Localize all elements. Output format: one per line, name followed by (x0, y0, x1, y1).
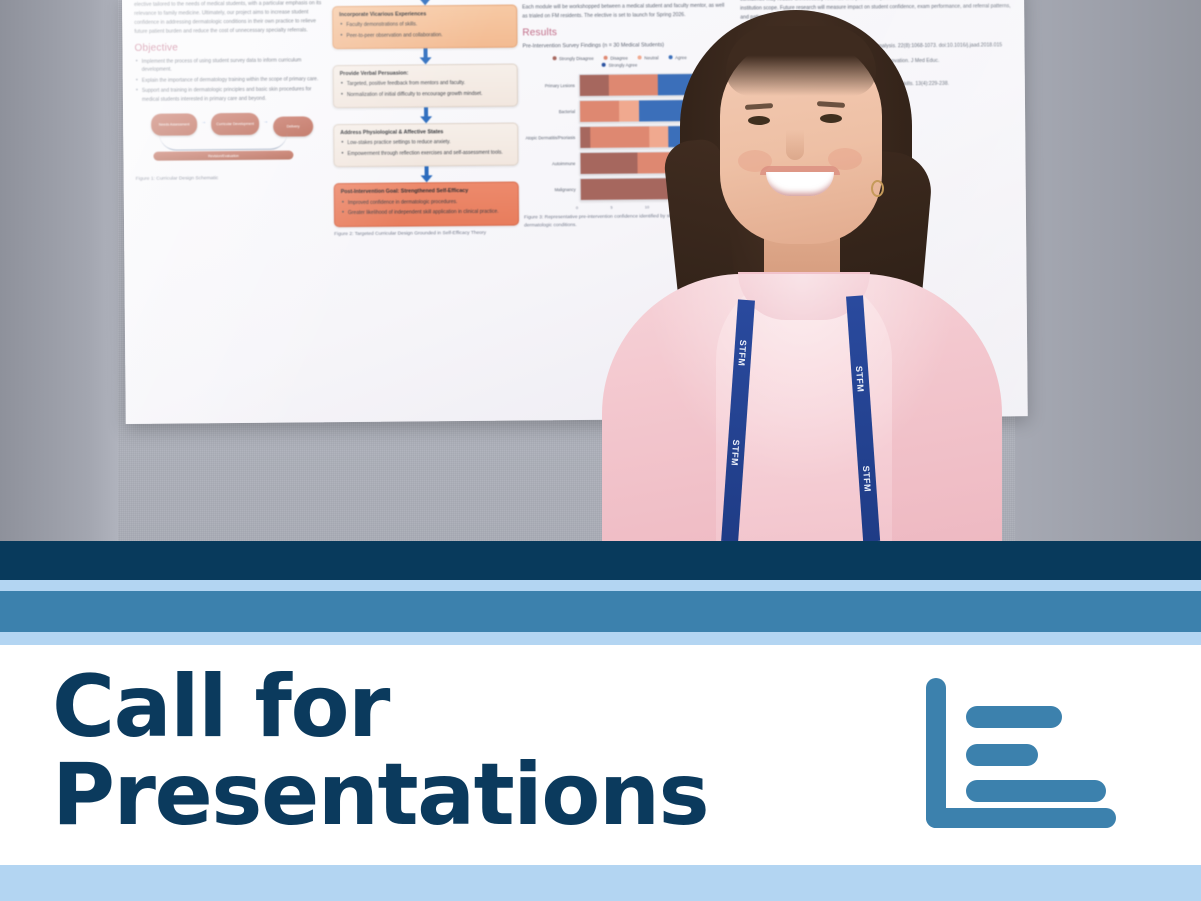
chart-category-label: Bacterial (523, 109, 579, 115)
band-light-blue-middle (0, 632, 1201, 645)
flow-box-item: Improved confidence in dermatologic proc… (341, 197, 512, 207)
chart-category-label: Malignancy (524, 187, 580, 193)
band-medium-blue (0, 591, 1201, 632)
banner-title: Call for Presentations (52, 668, 812, 836)
chart-category-label: Atopic Dermatitis/Psoriasis (523, 135, 579, 141)
nose (786, 130, 804, 160)
figure-2-caption: Figure 2: Targeted Curricular Design Gro… (334, 229, 519, 238)
conference-photo: Recognizing the gap, our project aims to… (0, 0, 1201, 541)
flow-box: Incorporate Vicarious Experiences Facult… (332, 5, 517, 50)
flow-arrow-icon (333, 107, 518, 125)
earring (871, 180, 884, 197)
lanyard-text: STFM (729, 439, 741, 466)
arrow-right-icon: → (263, 119, 268, 125)
cardigan-highlight (602, 274, 1002, 541)
call-for-presentations-banner: Recognizing the gap, our project aims to… (0, 0, 1201, 901)
lanyard-text: STFM (854, 366, 866, 393)
schematic-node: Curricular Development (211, 113, 259, 135)
hairline (726, 26, 876, 96)
flow-box-title: Address Physiological & Affective States (340, 129, 511, 138)
objective-item: Support and training in dermatologic pri… (135, 85, 325, 104)
schematic-revision-bar: Revision/Evaluation (153, 151, 293, 161)
flow-box-item: Low-stakes practice settings to reduce a… (340, 138, 511, 148)
schematic-feedback-curve (159, 133, 287, 151)
objective-item: Implement the process of using student s… (135, 56, 325, 75)
flow-box-title: Provide Verbal Persuasion: (340, 70, 511, 79)
flow-box: Provide Verbal Persuasion: Targeted, pos… (333, 64, 518, 109)
flow-box-item: Empowerment through reflection exercises… (340, 149, 511, 159)
flow-box-item: Targeted, positive feedback from mentors… (340, 79, 511, 89)
flow-arrow-icon (334, 166, 519, 184)
flow-box-item: Peer-to-peer observation and collaborati… (339, 30, 510, 40)
band-light-blue-bottom (0, 865, 1201, 901)
chart-category-label: Autoimmune (523, 161, 579, 167)
band-navy (0, 541, 1201, 580)
arrow-right-icon: → (201, 119, 206, 125)
curricular-design-schematic: Needs Assessment → Curricular Developmen… (135, 106, 326, 172)
presenter-portrait: STFM STFM STFM STFM (588, 0, 1008, 541)
purpose-body: Recognizing the gap, our project aims to… (134, 0, 324, 36)
poster-column-2: Incorporate Vicarious Experiences Facult… (332, 0, 519, 238)
lanyard-text: STFM (861, 465, 873, 492)
flow-box: Post-Intervention Goal: Strengthened Sel… (334, 182, 519, 227)
wall-right-panel (1015, 0, 1201, 541)
flow-box-title: Incorporate Vicarious Experiences (339, 11, 510, 20)
flow-box-item: Greater likelihood of independent skill … (341, 208, 512, 218)
eye-left (748, 116, 770, 125)
figure-1-caption: Figure 1: Curricular Design Schematic (136, 174, 326, 183)
flow-box: Address Physiological & Affective States… (333, 123, 518, 168)
legend-swatch-icon (552, 57, 556, 61)
lanyard-text: STFM (736, 340, 748, 367)
schematic-node: Needs Assessment (151, 113, 197, 135)
wall-left-panel (0, 0, 118, 541)
chart-category-label: Primary Lesions (523, 83, 579, 89)
objective-heading: Objective (134, 41, 324, 54)
poster-column-1: Recognizing the gap, our project aims to… (134, 0, 326, 184)
flow-box-item: Faculty demonstrations of skills. (339, 20, 510, 30)
title-line-2: Presentations (52, 756, 812, 836)
objective-item: Explain the importance of dermatology tr… (135, 75, 325, 85)
bar-chart-logo (918, 676, 1118, 842)
title-line-1: Call for (52, 668, 812, 748)
flow-box-title: Post-Intervention Goal: Strengthened Sel… (341, 188, 512, 197)
chart-x-tick: 0 (576, 205, 578, 210)
flow-box-item: Normalization of initial difficulty to e… (340, 89, 511, 99)
eye-right (820, 114, 842, 123)
flow-arrow-icon (333, 48, 518, 66)
band-light-blue-top (0, 580, 1201, 591)
